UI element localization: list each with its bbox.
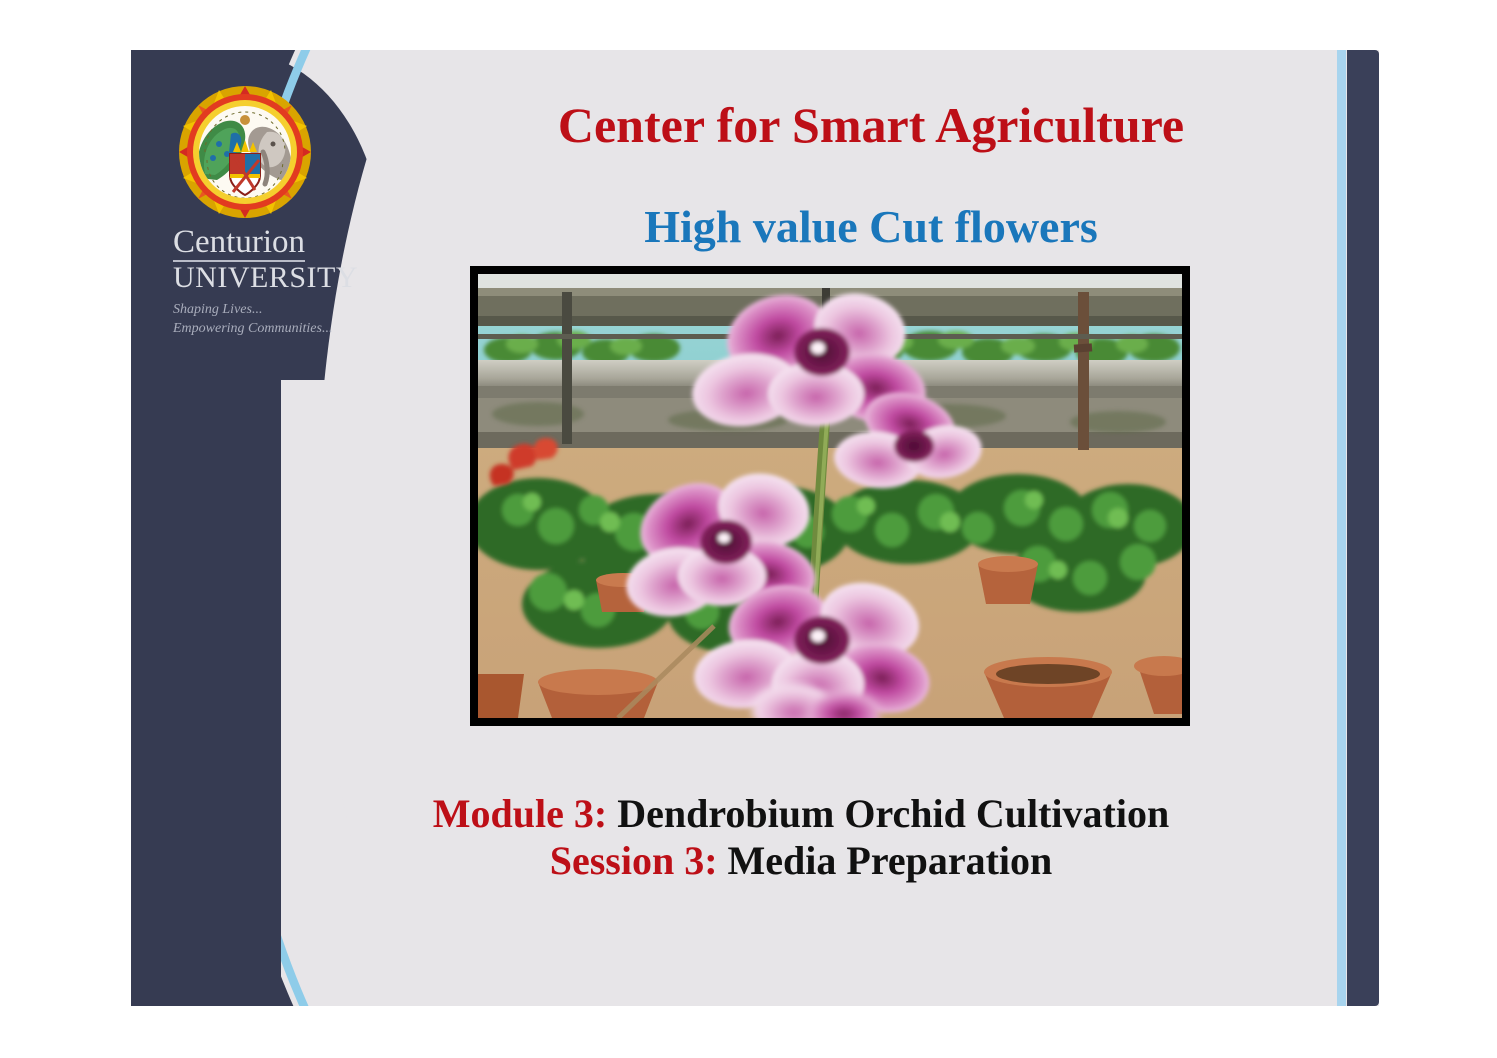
right-edge-accent-stripe <box>1337 50 1346 1006</box>
university-seal-icon <box>175 82 315 222</box>
logo-tagline-line1: Shaping Lives... <box>173 301 351 320</box>
page-subtitle: High value Cut flowers <box>421 200 1321 253</box>
module-label: Module 3: <box>433 791 607 836</box>
module-title: Dendrobium Orchid Cultivation <box>617 791 1169 836</box>
university-logo: Centurion UNIVERSITY Shaping Lives... Em… <box>161 82 351 339</box>
session-label: Session 3: <box>550 838 718 883</box>
page-title: Center for Smart Agriculture <box>421 96 1321 154</box>
logo-wordmark-line1: Centurion <box>173 226 305 262</box>
right-edge-navy-band <box>1347 50 1379 1006</box>
logo-wordmark: Centurion UNIVERSITY <box>173 226 351 293</box>
footer-text: Module 3: Dendrobium Orchid Cultivation … <box>281 790 1321 884</box>
logo-tagline: Shaping Lives... Empowering Communities.… <box>173 301 351 339</box>
module-line: Module 3: Dendrobium Orchid Cultivation <box>281 790 1321 837</box>
logo-tagline-line2: Empowering Communities... <box>173 320 351 339</box>
logo-wordmark-line2: UNIVERSITY <box>173 263 351 293</box>
session-title: Media Preparation <box>728 838 1053 883</box>
orchid-photo <box>470 266 1190 726</box>
slide-canvas: Centurion UNIVERSITY Shaping Lives... Em… <box>131 50 1379 1006</box>
session-line: Session 3: Media Preparation <box>281 837 1321 884</box>
